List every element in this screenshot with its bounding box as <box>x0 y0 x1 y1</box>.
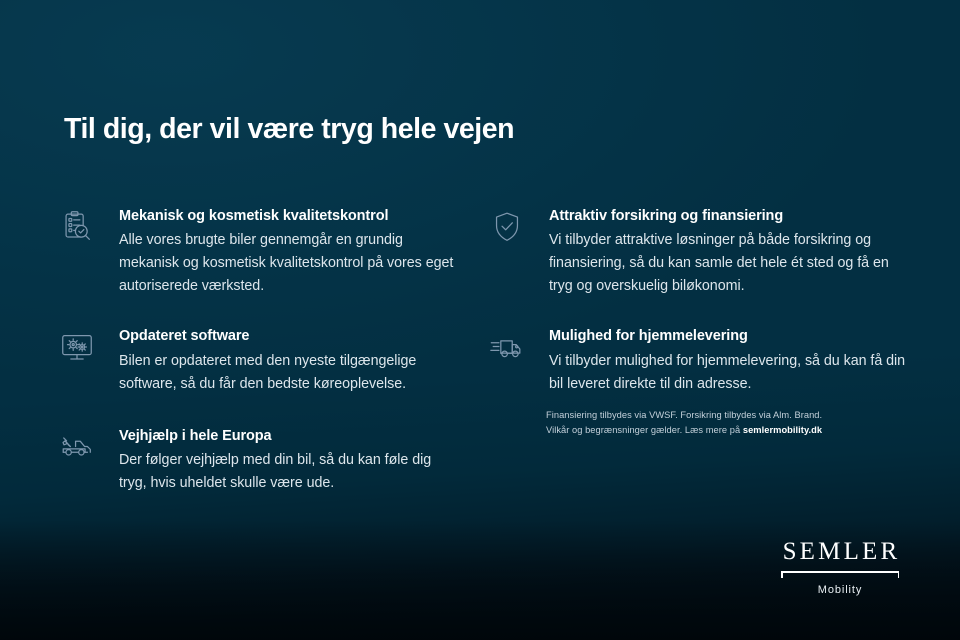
disclaimer-line-1: Finansiering tilbydes via VWSF. Forsikri… <box>546 408 846 423</box>
slide-content: Til dig, der vil være tryg hele vejen <box>0 0 960 640</box>
disclaimer-line-2: Vilkår og begrænsninger gælder. Læs mere… <box>546 423 846 438</box>
feature-title: Opdateret software <box>119 326 458 347</box>
feature-body: Vi tilbyder mulighed for hjemmelevering,… <box>549 350 908 396</box>
feature-body: Der følger vejhjælp med din bil, så du k… <box>119 449 458 495</box>
feature-item: Opdateret software Bilen er opdateret me… <box>58 326 458 395</box>
logo-rule-cap-left <box>781 571 783 578</box>
feature-item: Mulighed for hjemmelevering Vi tilbyder … <box>488 326 908 395</box>
feature-body: Bilen er opdateret med den nyeste tilgæn… <box>119 350 458 396</box>
tow-truck-icon <box>58 428 96 466</box>
clipboard-check-magnifier-icon <box>58 208 96 246</box>
legal-disclaimer: Finansiering tilbydes via VWSF. Forsikri… <box>546 408 846 438</box>
logo-wordmark: SEMLER <box>778 539 902 564</box>
feature-title: Mulighed for hjemmelevering <box>549 326 908 347</box>
feature-title: Mekanisk og kosmetisk kvalitetskontrol <box>119 206 458 227</box>
feature-body: Alle vores brugte biler gennemgår en gru… <box>119 229 458 298</box>
delivery-truck-icon <box>488 328 526 366</box>
logo-divider-rule <box>781 571 899 580</box>
shield-check-icon <box>488 208 526 246</box>
page-title: Til dig, der vil være tryg hele vejen <box>64 112 514 146</box>
disclaimer-line-2-text: Vilkår og begrænsninger gælder. Læs mere… <box>546 425 743 435</box>
logo-subtitle: Mobility <box>778 585 902 596</box>
feature-body: Vi tilbyder attraktive løsninger på både… <box>549 229 908 298</box>
feature-title: Vejhjælp i hele Europa <box>119 426 458 447</box>
feature-column-left: Mekanisk og kosmetisk kvalitetskontrol A… <box>58 206 458 521</box>
semlermobility-link[interactable]: semlermobility.dk <box>743 425 822 435</box>
feature-item: Attraktiv forsikring og finansiering Vi … <box>488 206 908 298</box>
semler-mobility-logo: SEMLER Mobility <box>778 539 902 596</box>
logo-rule-cap-right <box>898 571 900 578</box>
feature-item: Mekanisk og kosmetisk kvalitetskontrol A… <box>58 206 458 298</box>
feature-title: Attraktiv forsikring og finansiering <box>549 206 908 227</box>
feature-item: Vejhjælp i hele Europa Der følger vejhjæ… <box>58 426 458 495</box>
feature-column-right: Attraktiv forsikring og finansiering Vi … <box>488 206 908 422</box>
monitor-gears-icon <box>58 328 96 366</box>
